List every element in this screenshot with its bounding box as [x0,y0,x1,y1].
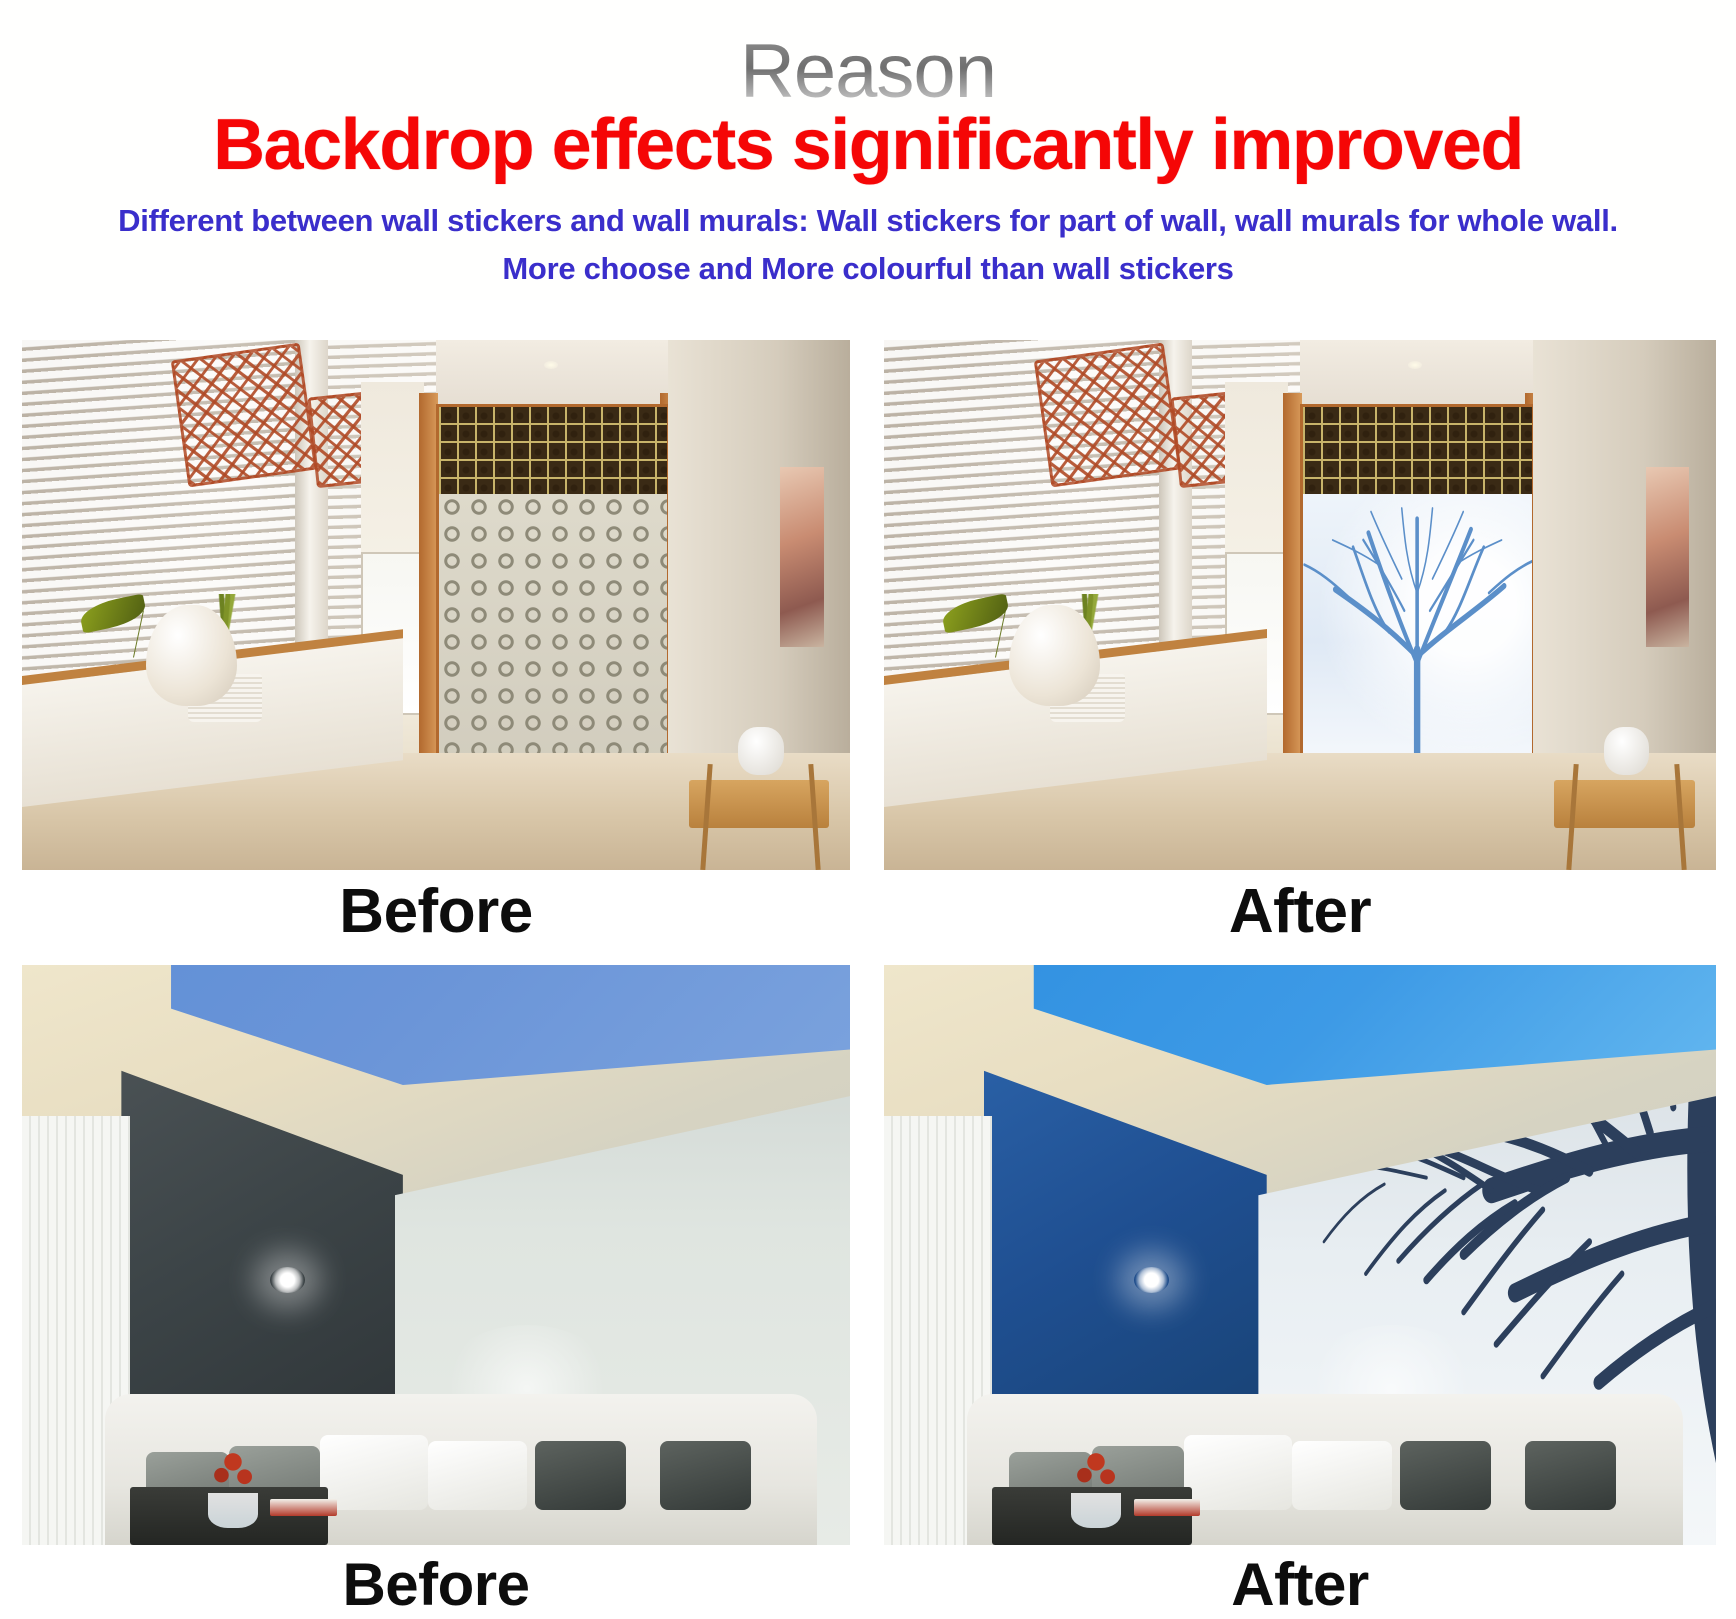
photo-frame [884,965,1716,1545]
lattice-wall-art-large-icon [1034,342,1181,487]
ceiling-downlight-icon [544,361,558,369]
table-lamp [1604,727,1650,775]
table-lamp [738,727,784,775]
caption-livingroom-before: Before [22,1550,850,1619]
comparison-grid: Before [0,300,1736,1600]
photo-frame [22,965,850,1545]
cushion-dark-2 [660,1441,751,1511]
cushion-dark-2 [1525,1441,1617,1511]
spotlight-icon [270,1267,305,1294]
cushion-dark-1 [535,1441,626,1511]
spotlight-icon [1134,1267,1169,1294]
door-frame-left [1283,393,1301,806]
subtitle-line-1: Different between wall stickers and wall… [0,203,1736,239]
wall-art-strip [1646,467,1689,647]
flower-arrangement [204,1446,262,1498]
door-frame-left [419,393,437,806]
caption-hallway-after: After [884,876,1716,947]
page-kicker: Reason [0,34,1736,110]
comparison-photo-hallway-after [884,340,1716,870]
decorative-grille-panel [436,404,670,500]
wall-art-strip [780,467,823,647]
book-on-table [270,1499,336,1516]
photo-frame [22,340,850,870]
cushion-white-2 [428,1441,527,1511]
page-header: Reason Backdrop effects significantly im… [0,0,1736,300]
cushion-dark-1 [1400,1441,1492,1511]
glass-vase [208,1493,258,1528]
comparison-photo-hallway-before [22,340,850,870]
lattice-wall-art-large-icon [171,342,318,487]
caption-hallway-before: Before [22,876,850,947]
glass-vase [1071,1493,1121,1528]
cushion-white-1 [1184,1435,1292,1510]
decorative-grille-panel [1300,404,1535,500]
comparison-photo-livingroom-after [884,965,1716,1545]
photo-frame [884,340,1716,870]
comparison-photo-livingroom-before [22,965,850,1545]
flower-arrangement [1067,1446,1125,1498]
book-on-table [1134,1499,1201,1516]
livingroom-scene-before [22,965,850,1545]
caption-livingroom-after: After [884,1550,1716,1619]
livingroom-scene-after [884,965,1716,1545]
hallway-scene-before [22,340,850,870]
subtitle-line-2: More choose and More colourful than wall… [0,251,1736,287]
cushion-white-2 [1292,1441,1392,1511]
page-title: Backdrop effects significantly improved [0,108,1736,184]
hallway-scene-after [884,340,1716,870]
tree-mural-icon [1300,494,1535,770]
